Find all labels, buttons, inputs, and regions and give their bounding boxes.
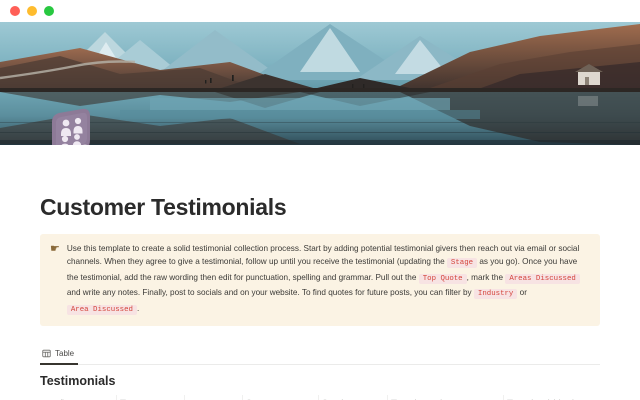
- page-cover-image[interactable]: [0, 22, 640, 145]
- people-group-icon[interactable]: [42, 106, 98, 145]
- callout-text: Use this template to create a solid test…: [67, 242, 588, 317]
- window-titlebar: [0, 0, 640, 22]
- close-button[interactable]: [10, 6, 20, 16]
- zoom-button[interactable]: [44, 6, 54, 16]
- table-scroll-container[interactable]: AaClient NameCompanyLogoStageIndustryBac…: [40, 395, 600, 400]
- column-header-stage[interactable]: Stage: [242, 395, 318, 400]
- column-header-testimonial-raw[interactable]: Testimonial (raw): [503, 395, 600, 400]
- column-header-company[interactable]: Company: [116, 395, 184, 400]
- database-view-tabs: Table: [40, 346, 600, 365]
- callout-block[interactable]: ☛ Use this template to create a solid te…: [40, 234, 600, 326]
- tab-table-label: Table: [55, 349, 74, 358]
- testimonials-table: AaClient NameCompanyLogoStageIndustryBac…: [40, 395, 600, 400]
- page-body: Customer Testimonials ☛ Use this templat…: [0, 194, 640, 400]
- page-title: Customer Testimonials: [40, 194, 600, 221]
- minimize-button[interactable]: [27, 6, 37, 16]
- inline-code-tag: Industry: [474, 289, 517, 299]
- people-group-icon-art: [42, 106, 98, 145]
- column-header-background[interactable]: Background: [387, 395, 503, 400]
- inline-code-tag: Stage: [447, 258, 477, 268]
- inline-code-tag: Top Quote: [419, 274, 467, 284]
- column-header-logo[interactable]: Logo: [184, 395, 242, 400]
- column-header-client-name[interactable]: AaClient Name: [40, 395, 116, 400]
- inline-code-tag: Areas Discussed: [505, 274, 580, 284]
- column-header-industry[interactable]: Industry: [318, 395, 387, 400]
- table-header-row: AaClient NameCompanyLogoStageIndustryBac…: [40, 395, 600, 400]
- database-title: Testimonials: [40, 374, 600, 388]
- tab-table[interactable]: Table: [40, 346, 78, 365]
- pointing-hand-icon: ☛: [50, 242, 60, 317]
- inline-code-tag: Area Discussed: [67, 305, 137, 315]
- table-icon: [42, 349, 51, 358]
- table-header: AaClient NameCompanyLogoStageIndustryBac…: [40, 395, 600, 400]
- traffic-light-group: [10, 6, 54, 16]
